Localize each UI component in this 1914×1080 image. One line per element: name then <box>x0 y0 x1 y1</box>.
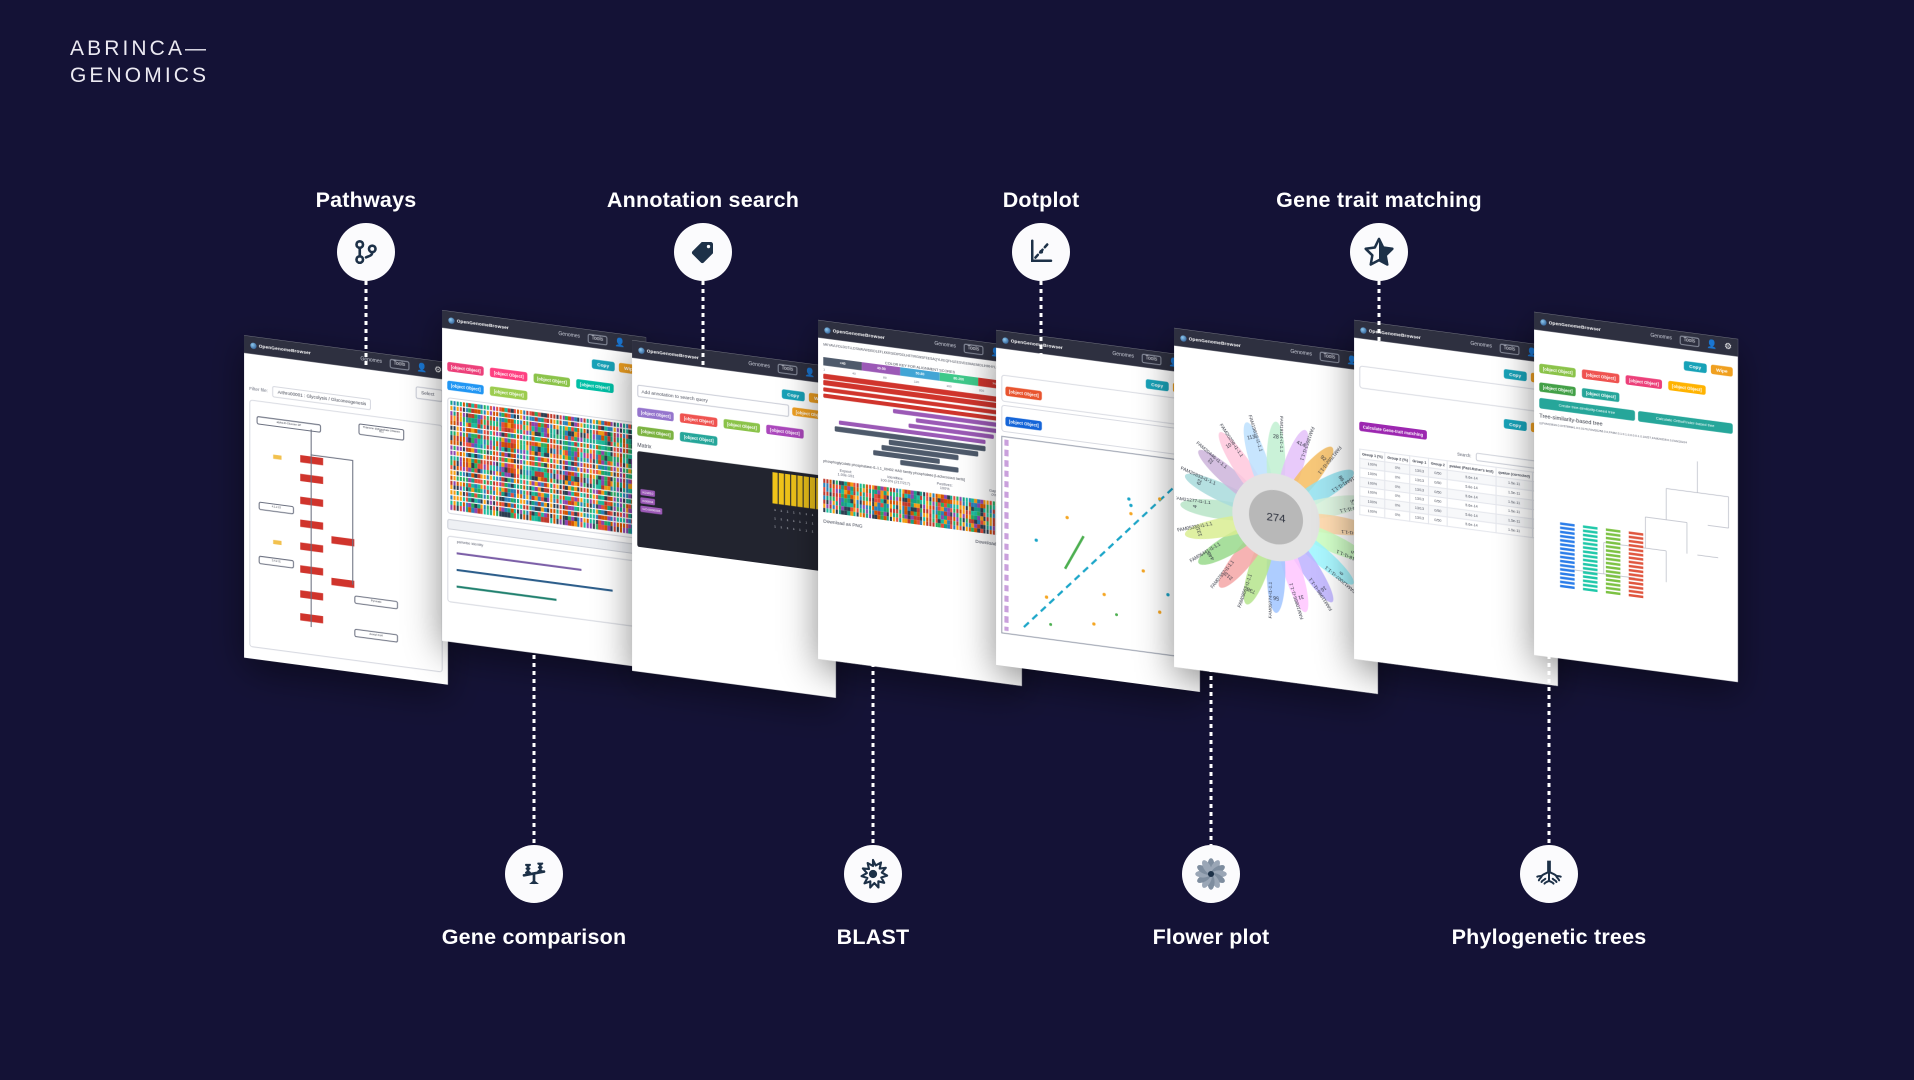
nav-tools[interactable]: Tools <box>1679 335 1699 348</box>
app-logo: OpenGenomeBrowser <box>448 317 509 331</box>
nav-genomes[interactable]: Genomes <box>748 362 770 370</box>
nav-genomes[interactable]: Genomes <box>558 332 580 340</box>
ruler-tick: 1 <box>823 368 825 372</box>
app-logo-mark <box>1002 337 1008 344</box>
petal-label: FAM09774-i1-1.1 <box>1268 581 1274 619</box>
gene-tag[interactable]: [object Object] <box>490 386 527 400</box>
matrix-column-label <box>772 472 777 504</box>
flower-icon[interactable] <box>1182 845 1240 903</box>
petal-outer-count: 56 <box>1273 594 1279 601</box>
tree-leaf-label <box>1560 526 1575 530</box>
flower-core-count: 274 <box>1266 511 1286 526</box>
tree-leaf-label <box>1606 528 1621 532</box>
card-gene-trait-matching[interactable]: OpenGenomeBrowser Genomes Tools 👤 ⚙ Copy… <box>1354 320 1558 686</box>
gene-trait-matching-body: Copy Wipe Copy Wipe Calculate Gene-trait… <box>1354 338 1558 546</box>
nav-tools[interactable]: Tools <box>1141 353 1161 366</box>
tree-leaf-label <box>1560 547 1575 551</box>
tree-leaf-label <box>1629 581 1644 585</box>
dotplot-tag-x[interactable]: [object Object] <box>1005 387 1042 401</box>
tree-leaf-label <box>1560 576 1575 580</box>
tree-leaf-label <box>1583 550 1598 554</box>
pathway-select[interactable]: Select <box>416 386 443 402</box>
tree-leaf-label <box>1560 551 1575 555</box>
tree-leaf-label <box>1606 532 1621 536</box>
tree-leaf-label <box>1583 567 1598 571</box>
tree-leaf-label <box>1560 572 1575 576</box>
tree-leaf-label <box>1583 538 1598 542</box>
ruler-tick: 120 <box>914 380 919 385</box>
gene-tag[interactable]: [object Object] <box>576 379 613 393</box>
calculate-gene-trait-matching-button[interactable]: Calculate Gene-trait matching <box>1359 422 1426 440</box>
tree-leaf-label <box>1583 579 1598 583</box>
leader-line-blast <box>872 655 875 845</box>
pathway-ec[interactable]: 4.1.2.13 <box>259 502 294 515</box>
wipe-button[interactable]: Wipe <box>1711 364 1733 377</box>
tree-leaf-label <box>1606 582 1621 586</box>
annotation-tag[interactable]: [object Object] <box>723 419 760 433</box>
tree-leaf-label <box>1606 536 1621 540</box>
matrix-column-label <box>810 477 815 509</box>
tree-leaf-label <box>1560 559 1575 563</box>
copy-button[interactable]: Copy <box>782 389 804 402</box>
app-logo-mark <box>250 342 256 349</box>
app-logo: OpenGenomeBrowser <box>1360 326 1421 340</box>
gene-tag[interactable]: [object Object] <box>447 381 484 395</box>
tree-leaf-label <box>1583 529 1598 533</box>
nav-genomes[interactable]: Genomes <box>934 342 956 350</box>
ruler-tick: 40 <box>852 372 855 377</box>
app-logo-mark <box>824 326 830 333</box>
feature-label-annotation-search: Annotation search <box>607 188 799 213</box>
tree-leaf-label <box>1606 541 1621 545</box>
root-tree-icon[interactable] <box>1520 845 1578 903</box>
table-cell-g2: 0/50 <box>1429 515 1447 527</box>
tree-leaf-label <box>1606 591 1621 595</box>
app-logo-text: OpenGenomeBrowser <box>1011 338 1063 350</box>
tree-leaf-label <box>1583 546 1598 550</box>
tag-icon[interactable] <box>674 223 732 281</box>
tree-leaf-label <box>1583 583 1598 587</box>
annotation-tag[interactable]: [object Object] <box>637 426 674 440</box>
app-logo: OpenGenomeBrowser <box>1180 334 1241 348</box>
nav-genomes[interactable]: Genomes <box>1112 352 1134 360</box>
tree-leaf-label <box>1629 577 1644 581</box>
app-logo-mark <box>1360 326 1366 333</box>
flower-plot-body: 22254FAM21277-i1-1.1140262FAM20833-i1-1.… <box>1174 346 1378 694</box>
search-label: Search: <box>1457 451 1471 458</box>
tree-leaf-label <box>1583 542 1598 546</box>
tree-leaf-label <box>1560 539 1575 543</box>
phylo-tag[interactable]: [object Object] <box>1625 375 1662 389</box>
card-annotation-search[interactable]: OpenGenomeBrowser Genomes Tools 👤 ⚙ Copy… <box>632 340 836 698</box>
tree-leaf-label <box>1560 543 1575 547</box>
app-logo-text: OpenGenomeBrowser <box>1189 336 1241 348</box>
annotation-tag[interactable]: [object Object] <box>637 408 674 422</box>
tree-leaf-label <box>1583 575 1598 579</box>
pathway-node[interactable]: Acetyl-CoA <box>354 629 398 643</box>
copy-button[interactable]: Copy <box>1684 361 1706 374</box>
pathway-node[interactable]: Thiamine diphosphate (Vitamin B1) <box>358 423 404 440</box>
tree-canvas[interactable] <box>1539 430 1732 612</box>
user-icon[interactable]: 👤 <box>615 338 625 348</box>
tree-leaf-label <box>1583 533 1598 537</box>
tree-leaf-label <box>1560 534 1575 538</box>
tree-leaf-label <box>1629 548 1644 552</box>
tree-leaf-label <box>1606 553 1621 557</box>
blast-body: MKYAVLFDLDGTLLDSMAVWDEIDLEFLKKRGIDIPDDLH… <box>818 338 1022 555</box>
app-logo-mark <box>1180 334 1186 341</box>
axes-dotplot-icon[interactable] <box>1012 223 1070 281</box>
tree-leaf-label <box>1629 556 1644 560</box>
feature-label-pathways: Pathways <box>316 188 417 213</box>
app-logo-text: OpenGenomeBrowser <box>647 348 699 360</box>
app-logo: OpenGenomeBrowser <box>1002 337 1063 351</box>
pathways-body: Select Filter file: Arthro00001 : Glycol… <box>244 353 448 678</box>
card-phylogenetic-trees[interactable]: OpenGenomeBrowser Genomes Tools 👤 ⚙ Copy… <box>1534 312 1738 682</box>
gene-comparison-body: Copy Wipe [object Object] [object Object… <box>442 328 646 633</box>
tree-leaf-label <box>1629 560 1644 564</box>
tree-leaf-label <box>1629 552 1644 556</box>
app-logo-text: OpenGenomeBrowser <box>833 328 885 340</box>
leader-line-annotation-search <box>702 281 705 373</box>
app-logo: OpenGenomeBrowser <box>250 342 311 356</box>
flower-plot-svg[interactable]: 22254FAM21277-i1-1.1140262FAM20833-i1-1.… <box>1176 348 1376 687</box>
table-cell-g1p: 100% <box>1360 505 1385 518</box>
starburst-icon[interactable] <box>844 845 902 903</box>
ruler-tick: 160 <box>946 384 951 389</box>
pathway-node[interactable]: Pyruvate <box>354 595 398 609</box>
card-gene-comparison[interactable]: OpenGenomeBrowser Genomes Tools 👤 ⚙ Copy… <box>442 310 646 668</box>
feature-label-gene-comparison: Gene comparison <box>442 925 627 950</box>
card-flower-plot[interactable]: OpenGenomeBrowser Genomes Tools 👤 ⚙ 2225… <box>1174 328 1378 694</box>
feature-label-flower-plot: Flower plot <box>1153 925 1270 950</box>
ruler-tick: 80 <box>883 376 886 381</box>
nav-tools[interactable]: Tools <box>587 333 607 346</box>
tree-leaf-label <box>1606 578 1621 582</box>
tree-leaf-label <box>1560 555 1575 559</box>
gene-tag[interactable]: [object Object] <box>490 368 527 382</box>
matrix-column-label <box>797 475 802 507</box>
table-cell-g1: 13/13 <box>1410 512 1428 524</box>
user-icon[interactable]: 👤 <box>1707 339 1717 349</box>
nav-tools[interactable]: Tools <box>389 358 409 371</box>
user-icon[interactable]: 👤 <box>805 368 815 378</box>
filter-label: Filter file: <box>249 386 268 394</box>
leader-line-flower-plot <box>1210 660 1213 845</box>
copy-button-secondary[interactable]: Copy <box>1504 419 1526 432</box>
leader-line-dotplot <box>1040 281 1043 365</box>
dotplot-body: Copy Wipe [object Object] [object Object… <box>996 348 1200 673</box>
nav-genomes[interactable]: Genomes <box>1470 342 1492 350</box>
card-blast[interactable]: OpenGenomeBrowser Genomes Tools 👤 ⚙ MKYA… <box>818 320 1022 686</box>
feature-label-dotplot: Dotplot <box>1003 188 1080 213</box>
feature-label-blast: BLAST <box>837 925 910 950</box>
tree-leaf-label <box>1583 563 1598 567</box>
app-logo-text: OpenGenomeBrowser <box>1369 328 1421 340</box>
tree-leaf-label <box>1560 580 1575 584</box>
half-star-icon[interactable] <box>1350 223 1408 281</box>
app-logo-text: OpenGenomeBrowser <box>457 318 509 330</box>
phylo-tag[interactable]: [object Object] <box>1539 382 1576 396</box>
annotation-tag[interactable]: [object Object] <box>680 432 717 446</box>
app-logo-mark <box>1540 318 1546 325</box>
dotplot-tag-y[interactable]: [object Object] <box>1005 417 1042 431</box>
dotplot-canvas[interactable] <box>1001 436 1194 659</box>
phylo-tag[interactable]: [object Object] <box>1582 388 1619 402</box>
leader-line-phylogenetic-trees <box>1548 655 1551 845</box>
app-logo-mark <box>448 317 454 324</box>
annotation-tag[interactable]: [object Object] <box>766 425 803 439</box>
nav-tools[interactable]: Tools <box>1319 351 1339 364</box>
app-logo: OpenGenomeBrowser <box>638 347 699 361</box>
matrix-column-label <box>804 476 809 508</box>
app-logo: OpenGenomeBrowser <box>824 326 885 340</box>
leader-line-pathways <box>365 281 368 365</box>
card-dotplot[interactable]: OpenGenomeBrowser Genomes Tools 👤 ⚙ Copy… <box>996 330 1200 692</box>
nav-genomes[interactable]: Genomes <box>1650 334 1672 342</box>
gear-icon[interactable]: ⚙ <box>434 365 441 374</box>
tree-leaf-label <box>1606 566 1621 570</box>
matrix-column-label <box>785 474 790 506</box>
alignment-viewer[interactable] <box>447 397 640 539</box>
tree-leaf-label <box>1606 570 1621 574</box>
dna-balance-scale-icon[interactable] <box>505 845 563 903</box>
gene-tag[interactable]: [object Object] <box>447 362 484 376</box>
poster-stage: ABRINCA— GENOMICS OpenGenomeBrowser Geno… <box>0 0 1914 1080</box>
feature-label-phylogenetic-trees: Phylogenetic trees <box>1452 925 1647 950</box>
pathway-ec[interactable]: 5.4.2.11 <box>259 556 294 569</box>
pathway-graph-icon[interactable] <box>337 223 395 281</box>
tree-leaf-label <box>1583 525 1598 529</box>
tree-leaf-label <box>1583 558 1598 562</box>
annotation-search-body: Copy Wipe Add annotation to search query… <box>632 358 836 578</box>
tree-leaf-label <box>1629 569 1644 573</box>
tree-leaf-label <box>1560 584 1575 588</box>
annotation-tag[interactable]: [object Object] <box>680 413 717 427</box>
tree-leaf-label <box>1629 531 1644 535</box>
tree-svg <box>1539 430 1732 612</box>
tree-leaf-label <box>1583 554 1598 558</box>
dotplot-svg <box>1002 437 1193 658</box>
matrix-column-label <box>791 475 796 507</box>
petal-outer-count: 4 <box>1193 505 1199 509</box>
nav-tools[interactable]: Tools <box>963 343 983 356</box>
tree-leaf-label <box>1606 557 1621 561</box>
download-png-link[interactable]: Download as PNG <box>823 519 862 529</box>
tree-leaf-label <box>1560 568 1575 572</box>
tree-leaf-label <box>1560 522 1575 526</box>
tree-leaf-label <box>1606 549 1621 553</box>
tree-leaf-label <box>1560 530 1575 534</box>
phylogenetic-trees-body: Copy Wipe [object Object] [object Object… <box>1534 330 1738 617</box>
feature-label-gene-trait-matching: Gene trait matching <box>1276 188 1482 213</box>
app-logo-mark <box>638 347 644 354</box>
table-cell-g2p: 0% <box>1385 509 1410 522</box>
leader-line-gene-comparison <box>533 655 536 845</box>
card-pathways[interactable]: OpenGenomeBrowser Genomes Tools 👤 ⚙ Sele… <box>244 335 448 685</box>
matrix-column-label <box>779 473 784 505</box>
phylo-tag[interactable]: [object Object] <box>1668 381 1705 395</box>
app-logo: OpenGenomeBrowser <box>1540 318 1601 332</box>
phylo-tag[interactable]: [object Object] <box>1539 364 1576 378</box>
leader-line-gene-trait-matching <box>1378 281 1381 359</box>
tracks-note: pairwise identity <box>457 540 484 548</box>
copy-button[interactable]: Copy <box>592 359 614 372</box>
tree-leaf-label <box>1606 545 1621 549</box>
tree-leaf-label <box>1606 561 1621 565</box>
app-logo-text: OpenGenomeBrowser <box>259 343 311 355</box>
app-logo-text: OpenGenomeBrowser <box>1549 320 1601 332</box>
tree-leaf-label <box>1606 586 1621 590</box>
pathway-canvas[interactable]: alpha-D-Glucose-1P Thiamine diphosphate … <box>249 399 442 672</box>
nav-tools[interactable]: Tools <box>1499 343 1519 356</box>
copy-button[interactable]: Copy <box>1146 379 1168 392</box>
screenshot-card-stack: OpenGenomeBrowser Genomes Tools 👤 ⚙ Sele… <box>0 0 1914 1080</box>
tree-leaf-label <box>1629 594 1644 598</box>
tree-leaf-label <box>1629 544 1644 548</box>
gene-tag[interactable]: [object Object] <box>533 373 570 387</box>
tree-leaf-label <box>1629 564 1644 568</box>
tree-leaf-label <box>1583 587 1598 591</box>
user-icon[interactable]: 👤 <box>417 363 427 373</box>
nav-genomes[interactable]: Genomes <box>1290 350 1312 358</box>
gear-icon[interactable]: ⚙ <box>1724 342 1731 351</box>
tree-leaf-label <box>1629 535 1644 539</box>
ruler-tick: 200 <box>979 388 984 393</box>
tree-leaf-label <box>1629 539 1644 543</box>
copy-button[interactable]: Copy <box>1504 369 1526 382</box>
tree-leaf-label <box>1629 585 1644 589</box>
tree-leaf-label <box>1629 573 1644 577</box>
nav-tools[interactable]: Tools <box>777 363 797 376</box>
tree-leaf-label <box>1560 564 1575 568</box>
tree-leaf-label <box>1629 589 1644 593</box>
phylo-tag[interactable]: [object Object] <box>1582 369 1619 383</box>
